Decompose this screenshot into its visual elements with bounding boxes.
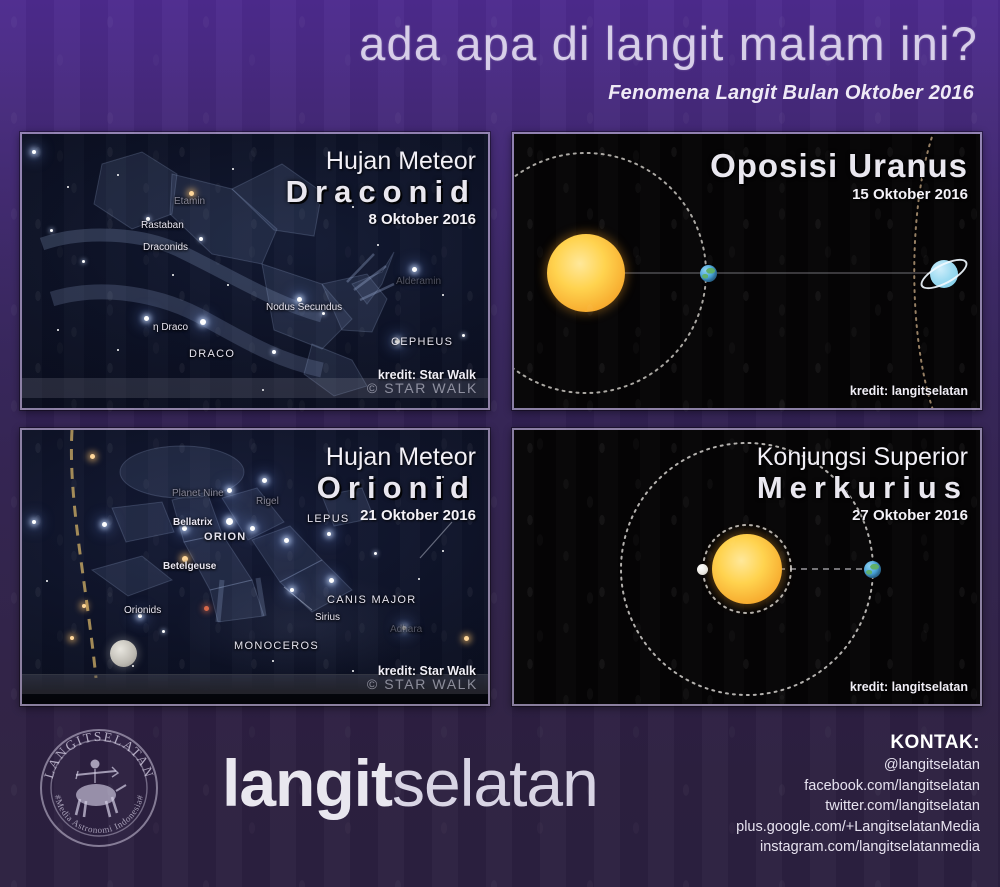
panel-date: 27 Oktober 2016 xyxy=(757,505,968,528)
star xyxy=(117,349,119,351)
panel-credit: kredit: langitselatan xyxy=(850,680,968,694)
star xyxy=(250,526,255,531)
page-subtitle: Fenomena Langit Bulan Oktober 2016 xyxy=(608,82,974,105)
star-label-orionids: Orionids xyxy=(124,605,161,616)
constellation-label-cepheus: CEPHEUS xyxy=(391,336,453,348)
star-label-nodus-secundus: Nodus Secundus xyxy=(266,302,342,313)
star xyxy=(46,580,48,582)
star xyxy=(70,636,74,640)
panel-kind: Konjungsi Superior xyxy=(757,444,968,471)
star xyxy=(32,150,36,154)
poster-footer: LANGITSELATAN #Media Astronomi Indonesia… xyxy=(0,712,1000,887)
star xyxy=(374,552,377,555)
constellation-label-canis-major: CANIS MAJOR xyxy=(327,594,416,606)
star xyxy=(272,660,274,662)
langitselatan-logo-seal[interactable]: LANGITSELATAN #Media Astronomi Indonesia… xyxy=(38,727,160,849)
star xyxy=(226,518,233,525)
contact-facebook[interactable]: facebook.com/langitselatan xyxy=(736,776,980,797)
panel-orionid[interactable]: Planet Nine Rigel Bellatrix ORION Betelg… xyxy=(20,428,490,706)
panel-date: 21 Oktober 2016 xyxy=(317,505,476,528)
panel-name: Orionid xyxy=(317,471,476,505)
panel-date: 8 Oktober 2016 xyxy=(286,209,476,232)
star-label-etamin: Etamin xyxy=(174,196,205,207)
langitselatan-wordmark[interactable]: langitselatan xyxy=(222,750,598,816)
star xyxy=(132,665,134,667)
star xyxy=(418,578,420,580)
panel-kind: Hujan Meteor xyxy=(317,444,476,471)
contact-heading: KONTAK: xyxy=(736,732,980,754)
poster-header: ada apa di langit malam ini? Fenomena La… xyxy=(0,0,1000,128)
star-rigel xyxy=(227,488,232,493)
contact-googleplus[interactable]: plus.google.com/+LangitselatanMedia xyxy=(736,817,980,838)
contact-instagram[interactable]: instagram.com/langitselatanmedia xyxy=(736,837,980,858)
moon-body xyxy=(110,640,137,667)
earth-body xyxy=(864,561,881,578)
star xyxy=(162,630,165,633)
contact-block: KONTAK: @langitselatan facebook.com/lang… xyxy=(736,732,980,858)
star-sirius xyxy=(290,588,294,592)
panel-name: Merkurius xyxy=(757,471,968,505)
constellation-label-draco: DRACO xyxy=(189,348,235,360)
star xyxy=(82,260,85,263)
star xyxy=(82,604,86,608)
star-label-planet-nine: Planet Nine xyxy=(172,488,224,499)
star xyxy=(327,532,331,536)
panel-konjungsi-merkurius[interactable]: Konjungsi Superior Merkurius 27 Oktober … xyxy=(512,428,982,706)
star-alderamin xyxy=(412,267,417,272)
star xyxy=(377,244,379,246)
star-label-betelgeuse: Betelgeuse xyxy=(163,561,216,572)
star xyxy=(227,284,229,286)
sun-body xyxy=(547,234,625,312)
panel-kind: Oposisi Uranus xyxy=(710,148,968,184)
star xyxy=(57,329,59,331)
contact-instagram-handle[interactable]: @langitselatan xyxy=(736,755,980,776)
panel-heading-draconid: Hujan Meteor Draconid 8 Oktober 2016 xyxy=(286,148,476,232)
star-label-rastaban: Rastaban xyxy=(141,220,184,231)
wordmark-bold: langit xyxy=(222,746,392,820)
star xyxy=(200,319,206,325)
panel-heading-merkurius: Konjungsi Superior Merkurius 27 Oktober … xyxy=(757,444,968,528)
star xyxy=(442,550,444,552)
panel-draconid[interactable]: Etamin Rastaban Draconids Nodus Secundus… xyxy=(20,132,490,410)
mercury-body xyxy=(697,564,708,575)
star-label-draconids: Draconids xyxy=(143,242,188,253)
star-label-bellatrix: Bellatrix xyxy=(173,517,212,528)
panel-date: 15 Oktober 2016 xyxy=(710,184,968,207)
star xyxy=(262,478,267,483)
star xyxy=(117,174,119,176)
star xyxy=(67,186,69,188)
panel-credit: kredit: Star Walk xyxy=(378,368,476,382)
star-label-alderamin: Alderamin xyxy=(396,276,441,287)
star-label-rigel: Rigel xyxy=(256,496,279,507)
sun-body xyxy=(712,534,782,604)
star xyxy=(462,334,465,337)
star xyxy=(50,229,53,232)
star xyxy=(272,350,276,354)
star xyxy=(352,670,354,672)
star-label-eta-draco: η Draco xyxy=(153,322,188,333)
star xyxy=(329,578,334,583)
star-label-sirius: Sirius xyxy=(315,612,340,623)
earth-body xyxy=(700,265,717,282)
star xyxy=(32,520,36,524)
star xyxy=(464,636,469,641)
panel-kind: Hujan Meteor xyxy=(286,148,476,175)
constellation-label-orion: ORION xyxy=(204,531,247,543)
star xyxy=(172,274,174,276)
star xyxy=(102,522,107,527)
constellation-label-monoceros: MONOCEROS xyxy=(234,640,319,652)
page-title: ada apa di langit malam ini? xyxy=(359,20,978,67)
star xyxy=(90,454,95,459)
star xyxy=(442,294,444,296)
panel-heading-orionid: Hujan Meteor Orionid 21 Oktober 2016 xyxy=(317,444,476,528)
star xyxy=(284,538,289,543)
star xyxy=(204,606,209,611)
star xyxy=(232,168,234,170)
star xyxy=(199,237,203,241)
panel-credit: kredit: langitselatan xyxy=(850,384,968,398)
wordmark-light: selatan xyxy=(392,746,598,820)
panel-heading-uranus: Oposisi Uranus 15 Oktober 2016 xyxy=(710,148,968,207)
panel-oposisi-uranus[interactable]: Oposisi Uranus 15 Oktober 2016 kredit: l… xyxy=(512,132,982,410)
contact-twitter[interactable]: twitter.com/langitselatan xyxy=(736,796,980,817)
centaur-figure xyxy=(76,760,126,818)
panel-credit: kredit: Star Walk xyxy=(378,664,476,678)
star-eta-draco xyxy=(144,316,149,321)
poster-background: ada apa di langit malam ini? Fenomena La… xyxy=(0,0,1000,887)
star-label-adhara: Adhara xyxy=(390,624,422,635)
panel-name: Draconid xyxy=(286,175,476,209)
